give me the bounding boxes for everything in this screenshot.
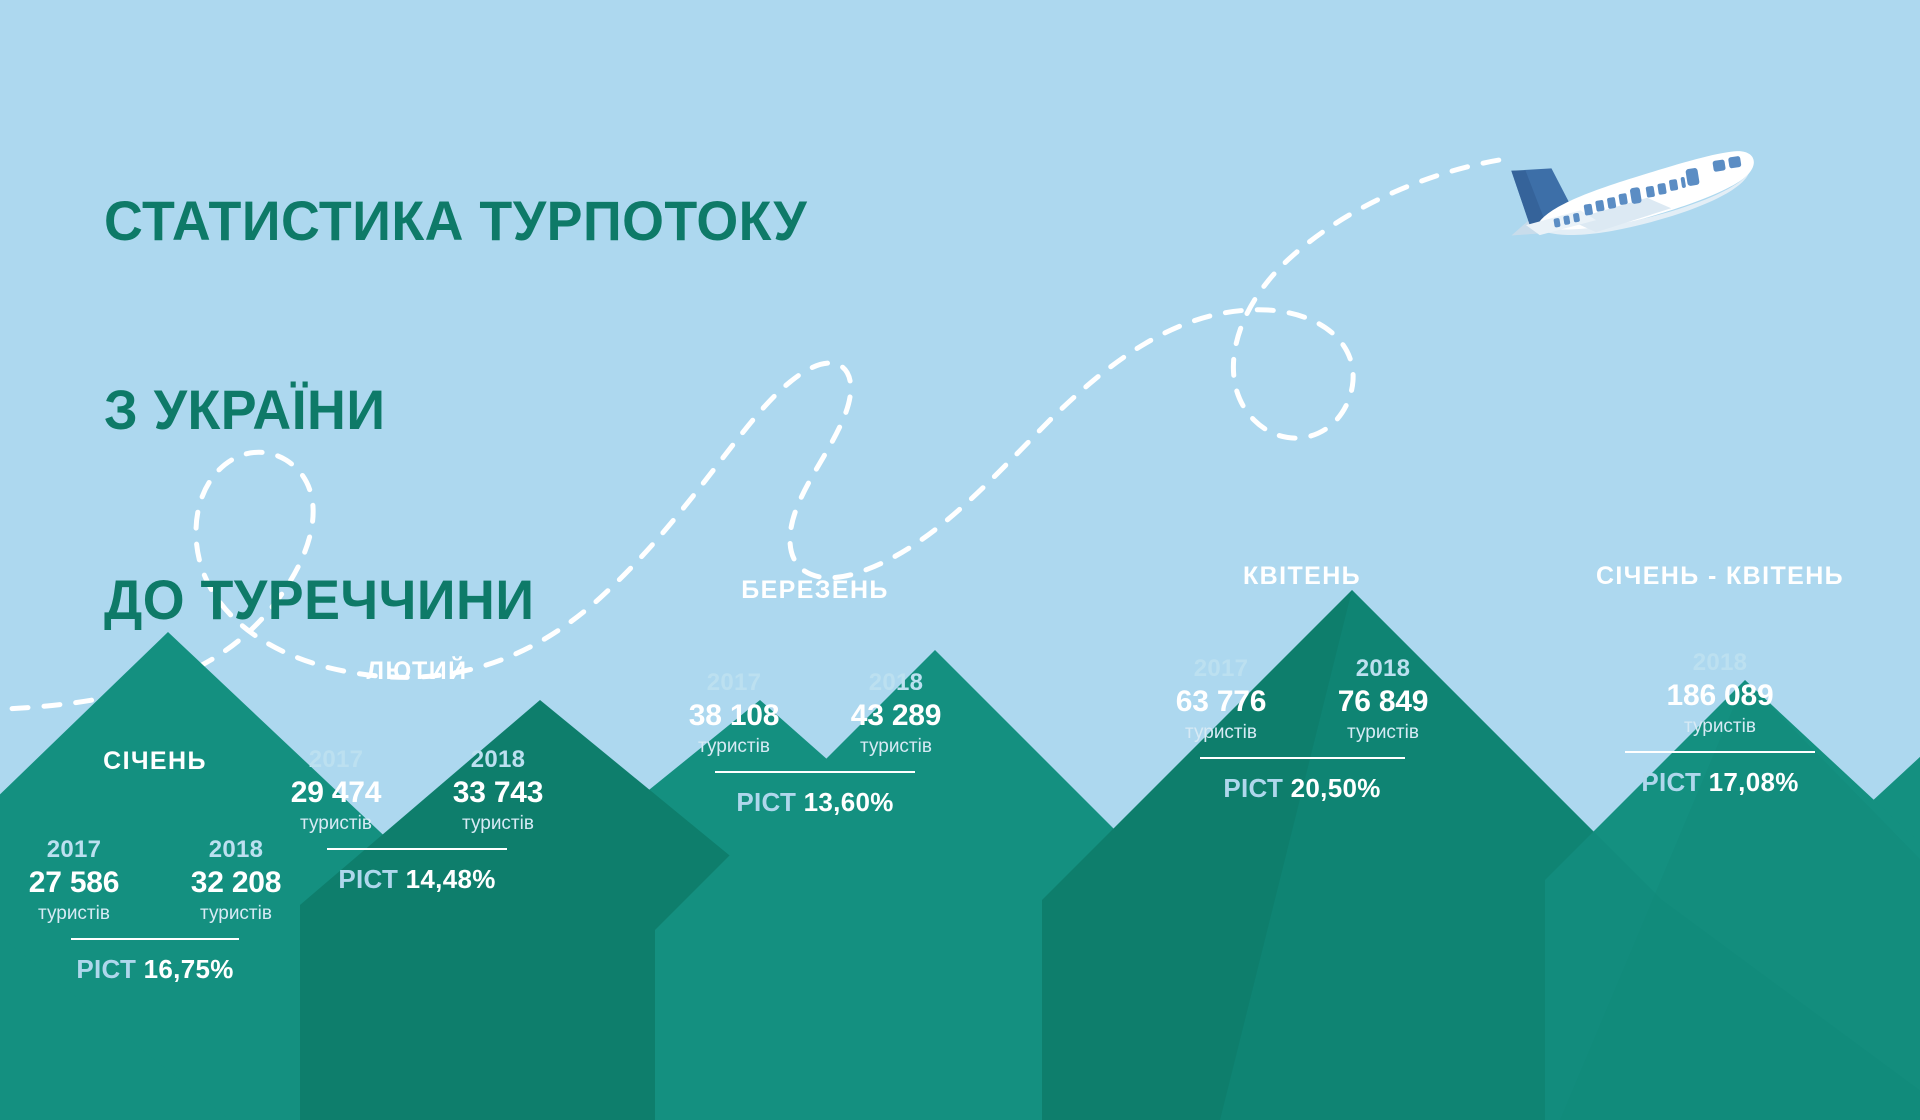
year-unit: туристів	[272, 812, 400, 837]
year-unit: туристів	[670, 735, 798, 760]
infographic-poster: СТАТИСТИКА ТУРПОТОКУ З УКРАЇНИ ДО ТУРЕЧЧ…	[0, 0, 1920, 1120]
year-label: 2017	[272, 745, 400, 775]
year-label: 2017	[10, 835, 138, 865]
year-unit: туристів	[434, 812, 562, 837]
growth-label: РІСТ	[1641, 767, 1708, 797]
year-value: 29 474	[272, 775, 400, 812]
growth-label: РІСТ	[338, 864, 405, 894]
year-label: 2018	[1319, 654, 1447, 684]
year-unit: туристів	[1640, 715, 1800, 740]
divider	[1625, 751, 1815, 753]
year-unit: туристів	[10, 902, 138, 927]
year-unit: туристів	[172, 902, 300, 927]
growth-value: 17,08%	[1709, 767, 1799, 797]
year-value: 76 849	[1319, 684, 1447, 721]
year-value: 33 743	[434, 775, 562, 812]
year-value: 186 089	[1640, 678, 1800, 715]
year-column-2018: 2018 186 089 туристів	[1640, 648, 1800, 739]
year-column-2017: 2017 27 586 туристів	[10, 835, 138, 926]
growth-row-january: РІСТ 16,75%	[10, 954, 300, 985]
month-label-january-april: СІЧЕНЬ - КВІТЕНЬ	[1570, 562, 1870, 591]
stat-block-january: СІЧЕНЬ 2017 27 586 туристів 2018 32 208 …	[10, 835, 300, 985]
year-label: 2017	[1157, 654, 1285, 684]
year-column-2018: 2018 43 289 туристів	[832, 668, 960, 759]
year-unit: туристів	[832, 735, 960, 760]
month-label-february: ЛЮТИЙ	[272, 657, 562, 686]
growth-row-february: РІСТ 14,48%	[272, 864, 562, 895]
year-column-2018: 2018 76 849 туристів	[1319, 654, 1447, 745]
year-row-january: 2017 27 586 туристів 2018 32 208 туристі…	[10, 835, 300, 926]
year-column-2017: 2017 63 776 туристів	[1157, 654, 1285, 745]
month-label-march: БЕРЕЗЕНЬ	[655, 576, 975, 605]
year-label: 2018	[832, 668, 960, 698]
growth-row-march: РІСТ 13,60%	[655, 787, 975, 818]
year-unit: туристів	[1319, 721, 1447, 746]
growth-value: 13,60%	[804, 787, 894, 817]
growth-row-april: РІСТ 20,50%	[1142, 773, 1462, 804]
year-value: 38 108	[670, 698, 798, 735]
year-column-2017: 2017 29 474 туристів	[272, 745, 400, 836]
year-label: 2018	[434, 745, 562, 775]
stat-block-april: КВІТЕНЬ 2017 63 776 туристів 2018 76 849…	[1142, 654, 1462, 804]
divider	[715, 771, 915, 773]
year-value: 63 776	[1157, 684, 1285, 721]
year-row-total: 2018 186 089 туристів	[1570, 648, 1870, 739]
year-column-2018: 2018 33 743 туристів	[434, 745, 562, 836]
year-row-april: 2017 63 776 туристів 2018 76 849 туристі…	[1142, 654, 1462, 745]
growth-value: 20,50%	[1291, 773, 1381, 803]
page-title: СТАТИСТИКА ТУРПОТОКУ З УКРАЇНИ ДО ТУРЕЧЧ…	[104, 62, 807, 758]
growth-label: РІСТ	[76, 954, 143, 984]
growth-label: РІСТ	[1223, 773, 1290, 803]
month-label-january: СІЧЕНЬ	[10, 747, 300, 776]
year-value: 27 586	[10, 865, 138, 902]
divider	[71, 938, 239, 940]
growth-row-total: РІСТ 17,08%	[1570, 767, 1870, 798]
divider	[1200, 757, 1405, 759]
growth-value: 14,48%	[406, 864, 496, 894]
text-layer: СТАТИСТИКА ТУРПОТОКУ З УКРАЇНИ ДО ТУРЕЧЧ…	[0, 0, 1920, 1120]
stat-block-january-april: СІЧЕНЬ - КВІТЕНЬ 2018 186 089 туристів Р…	[1570, 648, 1870, 798]
growth-value: 16,75%	[144, 954, 234, 984]
year-row-february: 2017 29 474 туристів 2018 33 743 туристі…	[272, 745, 562, 836]
year-label: 2018	[1640, 648, 1800, 678]
title-line-1: СТАТИСТИКА ТУРПОТОКУ	[104, 189, 807, 252]
stat-block-march: БЕРЕЗЕНЬ 2017 38 108 туристів 2018 43 28…	[655, 668, 975, 818]
stat-block-february: ЛЮТИЙ 2017 29 474 туристів 2018 33 743 т…	[272, 745, 562, 895]
growth-label: РІСТ	[736, 787, 803, 817]
year-row-march: 2017 38 108 туристів 2018 43 289 туристі…	[655, 668, 975, 759]
year-value: 43 289	[832, 698, 960, 735]
year-unit: туристів	[1157, 721, 1285, 746]
title-line-2: З УКРАЇНИ	[104, 378, 807, 441]
year-column-2017: 2017 38 108 туристів	[670, 668, 798, 759]
year-label: 2017	[670, 668, 798, 698]
month-label-april: КВІТЕНЬ	[1142, 562, 1462, 591]
divider	[327, 848, 507, 850]
